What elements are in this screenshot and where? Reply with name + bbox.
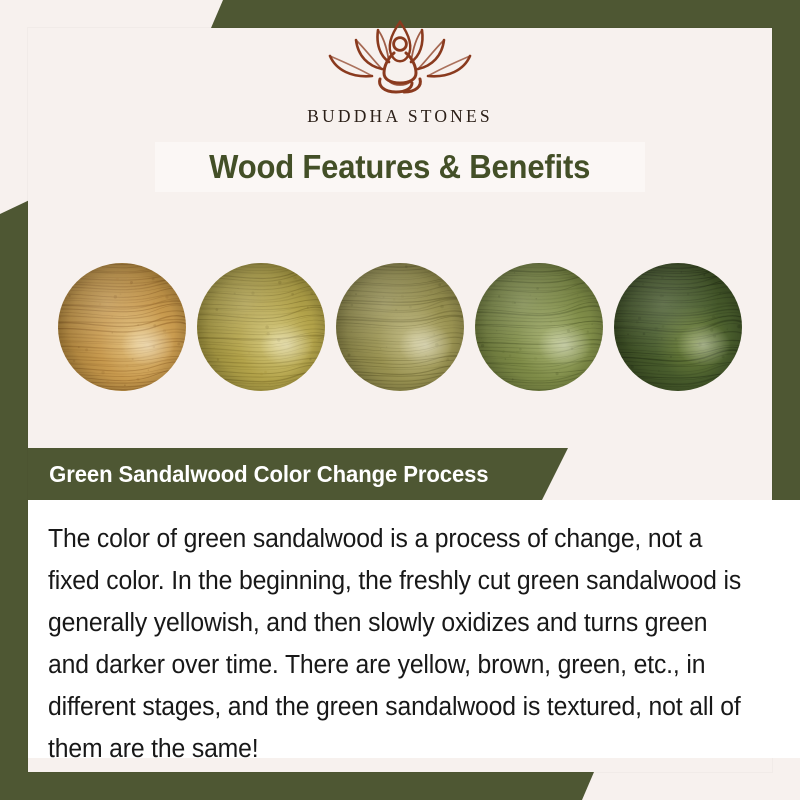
bead-stage-2 bbox=[197, 263, 325, 391]
body-panel: The color of green sandalwood is a proce… bbox=[28, 500, 800, 758]
page-title: Wood Features & Benefits bbox=[209, 148, 590, 186]
bead-stage-1 bbox=[58, 263, 186, 391]
brand-block: BUDDHA STONES bbox=[0, 16, 800, 127]
bead-highlight bbox=[614, 263, 742, 391]
bead-sequence bbox=[38, 248, 762, 406]
page-title-band: Wood Features & Benefits bbox=[155, 142, 645, 192]
bead-highlight bbox=[197, 263, 325, 391]
section-banner: Green Sandalwood Color Change Process bbox=[28, 448, 568, 500]
bead-highlight bbox=[475, 263, 603, 391]
lotus-meditation-figure-icon bbox=[316, 16, 484, 100]
section-body-text: The color of green sandalwood is a proce… bbox=[48, 518, 750, 770]
bead-highlight bbox=[58, 263, 186, 391]
promotional-poster: BUDDHA STONES Wood Features & Benefits G… bbox=[0, 0, 800, 800]
bead-highlight bbox=[336, 263, 464, 391]
section-banner-title: Green Sandalwood Color Change Process bbox=[28, 461, 489, 488]
brand-name: BUDDHA STONES bbox=[307, 106, 493, 127]
bead-stage-5 bbox=[614, 263, 742, 391]
bead-stage-3 bbox=[336, 263, 464, 391]
bead-stage-4 bbox=[475, 263, 603, 391]
